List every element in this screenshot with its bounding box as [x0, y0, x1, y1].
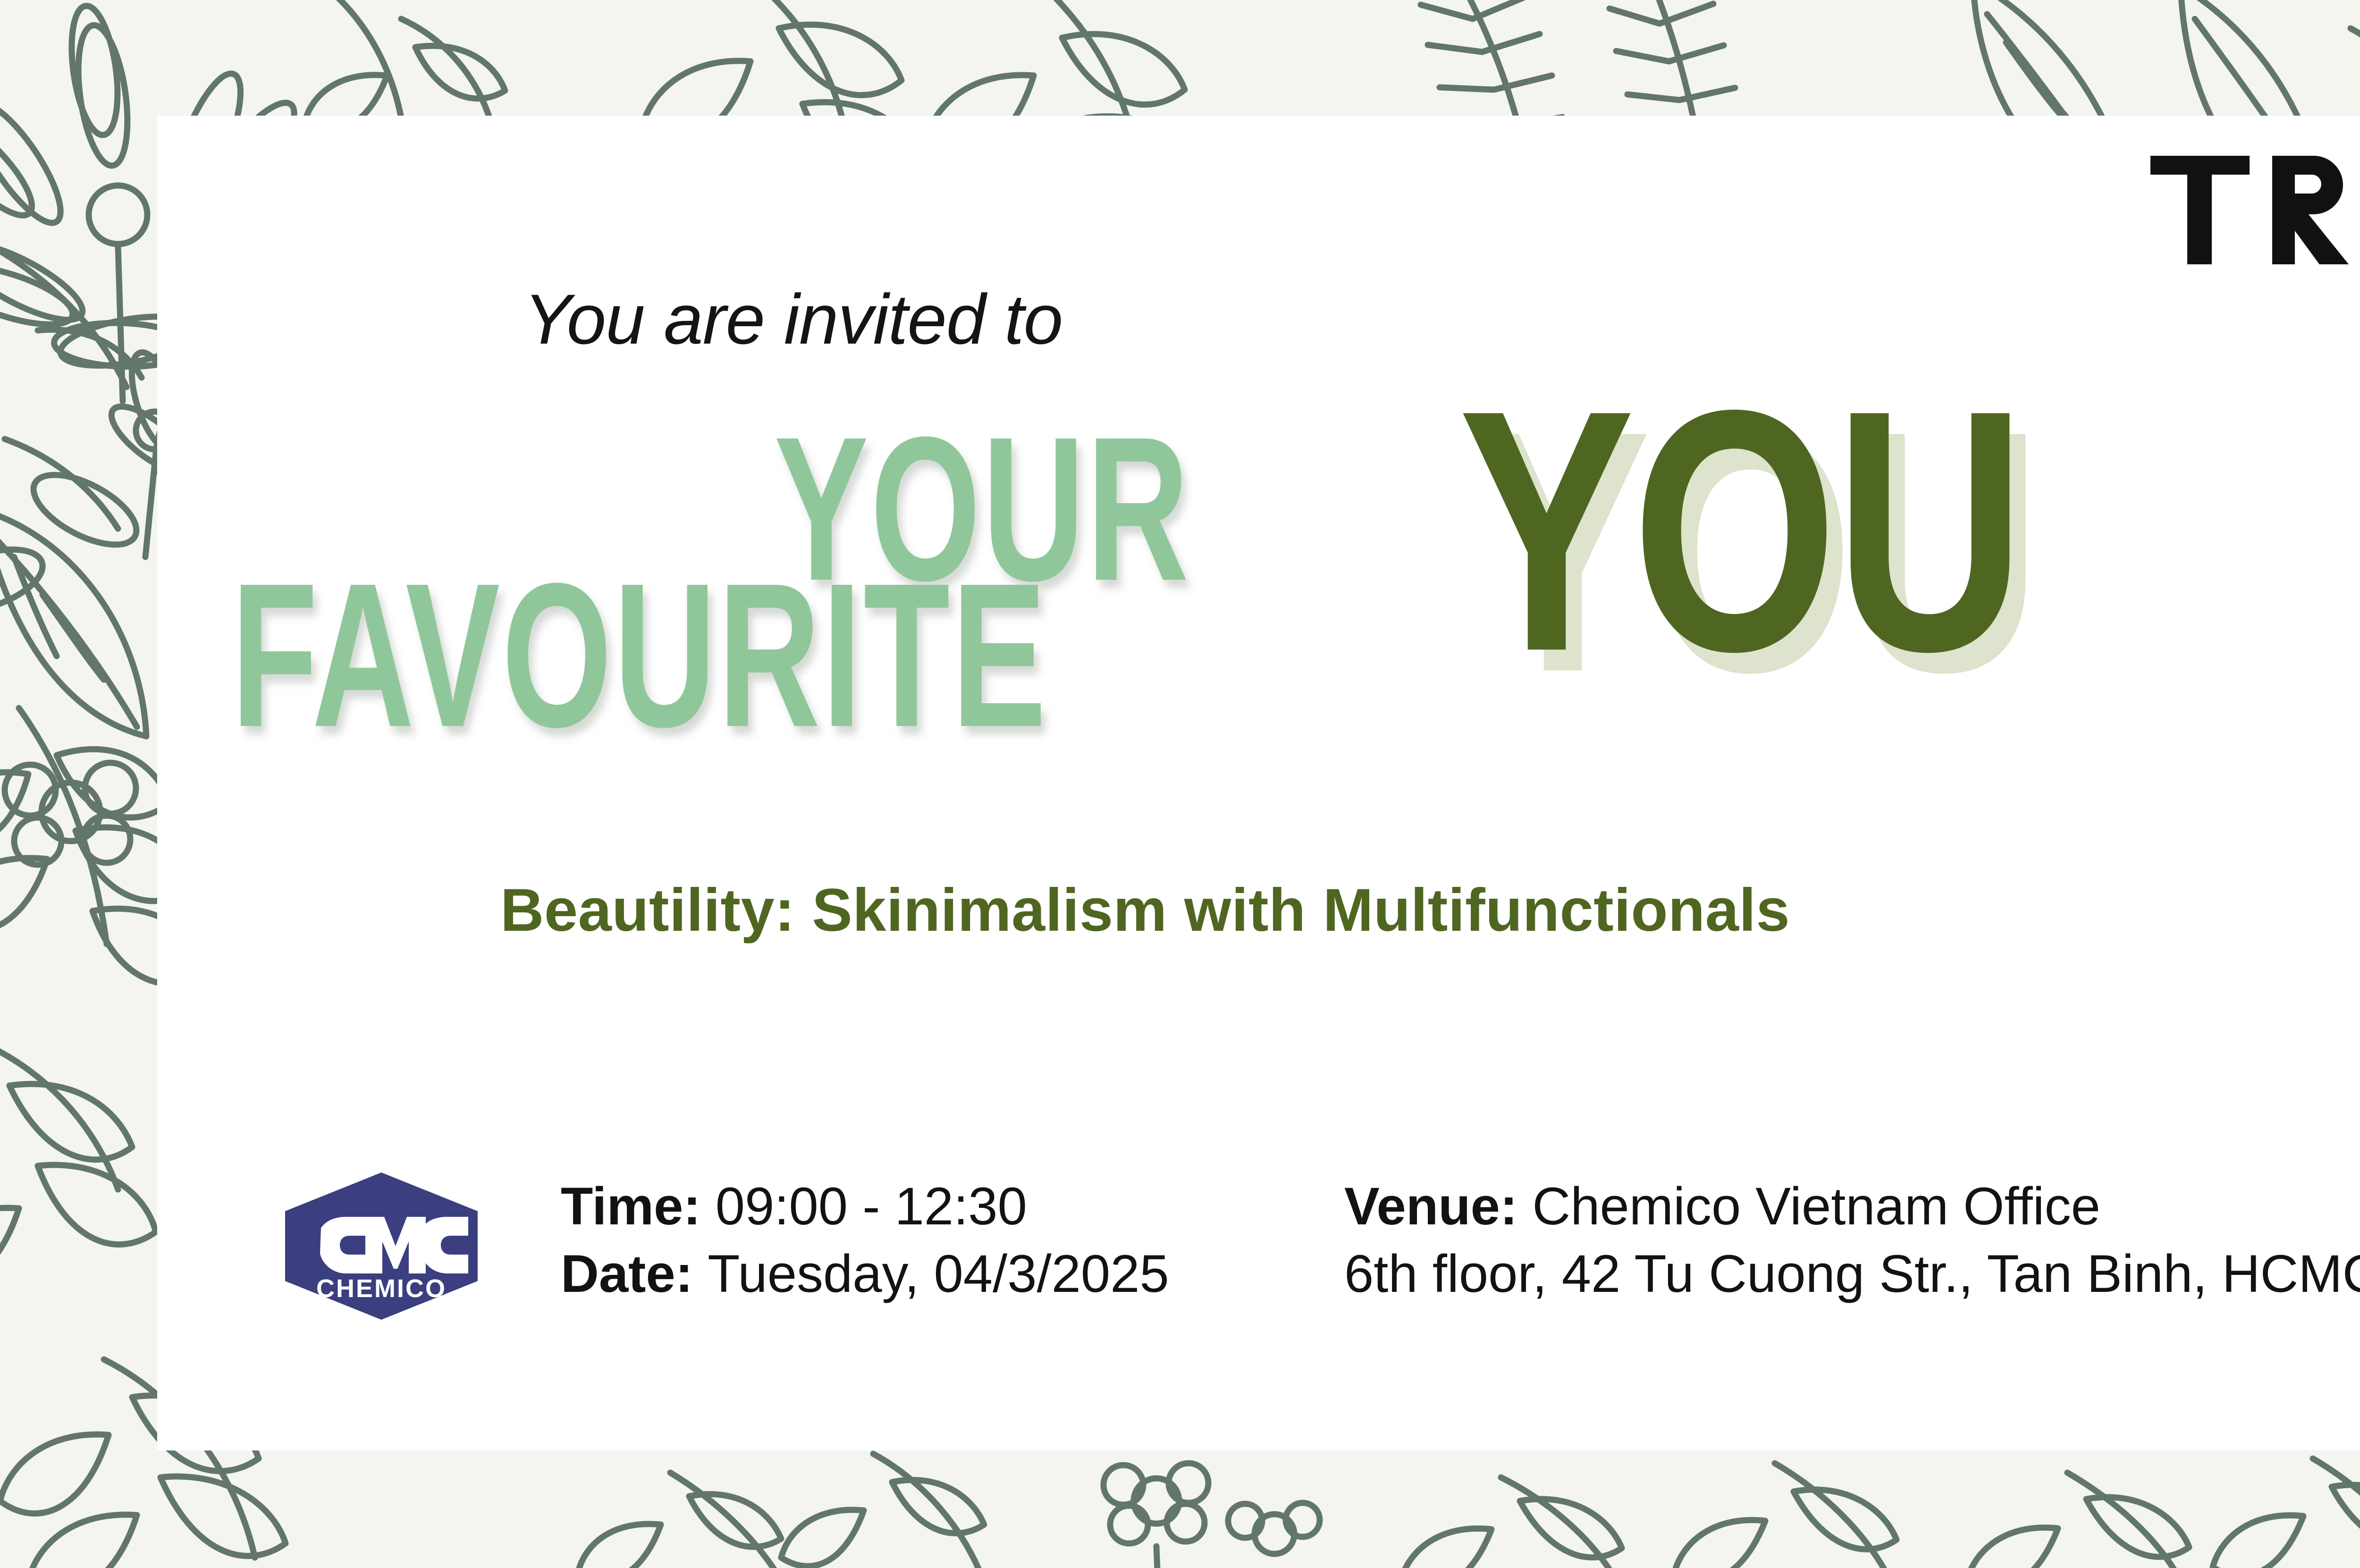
venue-value: Chemico Vietnam Office [1532, 1177, 2100, 1236]
venue-label: Venue: [1344, 1177, 1532, 1236]
time-label: Time: [561, 1177, 716, 1236]
date-value: Tuesday, 04/3/2025 [708, 1244, 1169, 1303]
address-line: 6th floor, 42 Tu Cuong Str., Tan Binh, H… [1344, 1240, 2360, 1307]
venue-column: Venue: Chemico Vietnam Office 6th floor,… [1344, 1172, 2360, 1308]
eyebrow-text: You are invited to [524, 278, 1062, 360]
chemico-logo: CHEMICO [278, 1171, 485, 1322]
time-date-column: Time: 09:00 - 12:30 Date: Tuesday, 04/3/… [561, 1172, 1169, 1308]
headline-block: YOUR FAVOURITE YOU [0, 396, 2360, 868]
date-line: Date: Tuesday, 04/3/2025 [561, 1240, 1169, 1307]
headline-favourite: FAVOURITE [231, 552, 1048, 758]
trik-logo [2150, 156, 2360, 264]
time-value: 09:00 - 12:30 [716, 1177, 1027, 1236]
event-subtitle: Beautility: Skinimalism with Multifuncti… [500, 876, 1790, 945]
date-label: Date: [561, 1244, 708, 1303]
headline-you-overlay: YOU [1458, 359, 2023, 702]
chemico-wordmark: CHEMICO [316, 1274, 447, 1303]
time-line: Time: 09:00 - 12:30 [561, 1172, 1169, 1240]
venue-line: Venue: Chemico Vietnam Office [1344, 1172, 2360, 1240]
details-row: CHEMICO Time: 09:00 - 12:30 Date: Tuesda… [0, 1161, 2360, 1359]
